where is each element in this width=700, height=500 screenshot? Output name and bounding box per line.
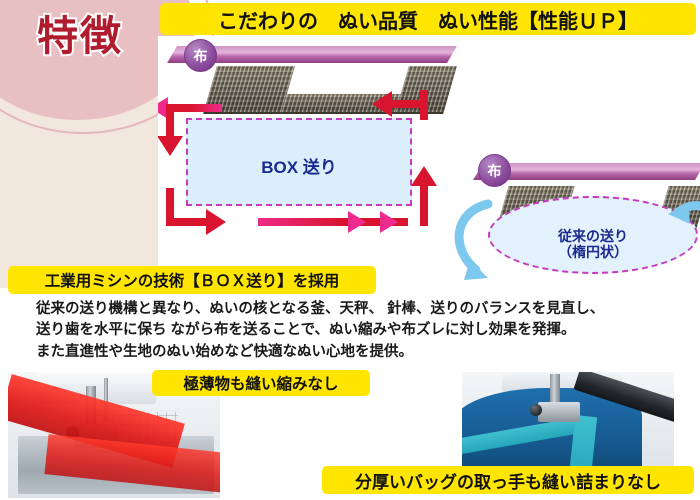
callout-title: 工業用ミシンの技術【ＢＯＸ送り】を採用: [45, 269, 340, 291]
header-title: こだわりの ぬい品質 ぬい性能【性能ＵＰ】: [218, 5, 638, 34]
callout-ribbon: 工業用ミシンの技術【ＢＯＸ送り】を採用: [8, 266, 376, 294]
rotation-arrow-right-icon: [668, 202, 700, 232]
header-banner: こだわりの ぬい品質 ぬい性能【性能ＵＰ】: [160, 3, 696, 35]
photo-left-ribbon: 極薄物も縫い縮みなし: [152, 370, 370, 396]
body-paragraph: 従来の送り機構と異なり、ぬいの核となる釜、天秤、 針棒、送りのバランスを見直し、…: [36, 299, 700, 363]
rotation-arrow-left-icon: [459, 204, 488, 280]
photo-left-label: 極薄物も縫い縮みなし: [183, 372, 338, 394]
photo-right-label: 分厚いバッグの取っ手も縫い詰まりなし: [355, 468, 661, 493]
feature-panel: 特徴: [0, 0, 158, 288]
rotation-arrows-group: [158, 36, 700, 288]
advertisement-page: 特徴 こだわりの ぬい品質 ぬい性能【性能ＵＰ】 布 BOX 送り: [0, 0, 700, 500]
photo-thick-bag: [462, 372, 674, 472]
foot-screw-shape-right: [530, 404, 542, 416]
photo-right-ribbon: 分厚いバッグの取っ手も縫い詰まりなし: [322, 466, 694, 494]
presser-foot-shape-right: [538, 402, 580, 422]
feed-mechanism-diagram: 布 BOX 送り: [158, 36, 700, 288]
feature-badge-label: 特徴: [10, 14, 150, 59]
